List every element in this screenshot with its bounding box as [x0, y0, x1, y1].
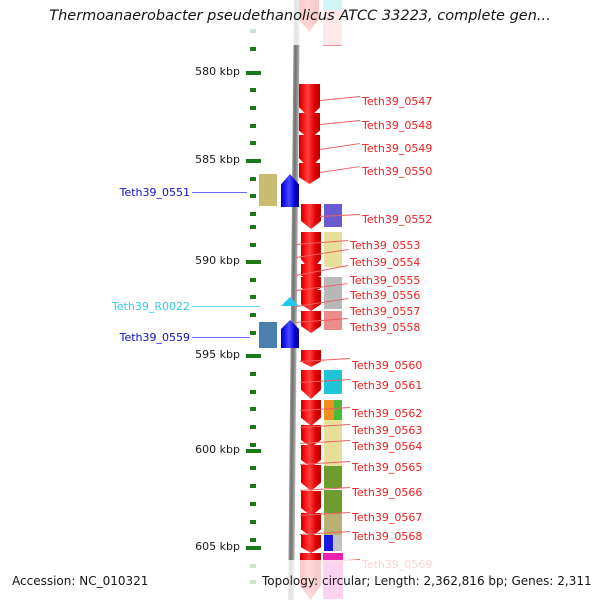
- gene-label[interactable]: Teth39_0547: [362, 95, 432, 108]
- feature-0568-arrow[interactable]: [301, 535, 321, 553]
- ruler-tick-minor: [250, 243, 256, 247]
- ruler-tick-minor: [250, 88, 256, 92]
- genome-viewer[interactable]: 580 kbp585 kbp590 kbp595 kbp600 kbp605 k…: [0, 0, 600, 600]
- gene-label[interactable]: Teth39_0549: [362, 142, 432, 155]
- ruler-tick-minor: [250, 313, 256, 317]
- feature-0562-arrow[interactable]: [301, 400, 321, 426]
- ruler-tick-minor: [250, 47, 256, 51]
- gene-label[interactable]: Teth39_0568: [352, 530, 422, 543]
- gene-label[interactable]: Teth39_0561: [352, 379, 422, 392]
- gene-label[interactable]: Teth39_0565: [352, 461, 422, 474]
- feature-0559-rect[interactable]: [259, 322, 277, 348]
- gene-label[interactable]: Teth39_0548: [362, 119, 432, 132]
- gene-label[interactable]: Teth39_0551: [52, 186, 190, 199]
- ruler-tick-minor: [250, 106, 256, 110]
- ruler-label: 600 kbp: [150, 443, 240, 456]
- feature-0547[interactable]: [299, 84, 320, 118]
- ruler-tick-minor: [250, 331, 256, 335]
- label-leader-line: [320, 120, 360, 125]
- feature-0560[interactable]: [301, 350, 321, 367]
- ruler-tick-minor: [250, 466, 256, 470]
- gene-label[interactable]: Teth39_0556: [350, 289, 420, 302]
- label-leader-line: [192, 306, 260, 307]
- ruler-tick-minor: [250, 520, 256, 524]
- feature-0568-rect-a[interactable]: [324, 535, 333, 551]
- ruler-tick-minor: [250, 177, 256, 181]
- gene-label[interactable]: Teth39_0566: [352, 486, 422, 499]
- feature-0566-arrow[interactable]: [301, 491, 321, 516]
- feature-0552-arrow[interactable]: [301, 204, 321, 229]
- ruler-tick-minor: [250, 295, 256, 299]
- gene-label[interactable]: Teth39_0567: [352, 511, 422, 524]
- ruler-tick-major: [246, 546, 261, 550]
- ruler-label: 590 kbp: [150, 254, 240, 267]
- ruler-tick-minor: [250, 225, 256, 229]
- label-leader-line: [192, 192, 247, 193]
- gene-label[interactable]: Teth39_0559: [52, 331, 190, 344]
- ruler-tick-major: [246, 260, 261, 264]
- gene-label[interactable]: Teth39_0557: [350, 305, 420, 318]
- label-leader-line: [320, 143, 360, 150]
- accession-label: Accession: NC_010321: [12, 574, 148, 588]
- ruler-tick-minor: [250, 502, 256, 506]
- ruler-tick-minor: [250, 390, 256, 394]
- ruler-tick-major: [246, 71, 261, 75]
- feature-0565-rect[interactable]: [324, 466, 342, 488]
- feature-0562-rect-b[interactable]: [334, 400, 342, 420]
- ruler-tick-minor: [250, 538, 256, 542]
- feature-0566-rect[interactable]: [324, 490, 342, 514]
- gene-label[interactable]: Teth39_0553: [350, 239, 420, 252]
- gene-label[interactable]: Teth39_R0022: [52, 300, 190, 313]
- feature-0550[interactable]: [299, 163, 320, 184]
- gene-label[interactable]: Teth39_0555: [350, 274, 420, 287]
- ruler-label: 605 kbp: [150, 540, 240, 553]
- ruler-tick-minor: [250, 443, 256, 447]
- feature-0565-arrow[interactable]: [301, 465, 321, 491]
- sequence-title: Thermoanaerobacter pseudethanolicus ATCC…: [0, 8, 600, 24]
- ruler-label: 580 kbp: [150, 65, 240, 78]
- label-leader-line: [320, 166, 360, 173]
- gene-label[interactable]: Teth39_0560: [352, 359, 422, 372]
- ruler-tick-minor: [250, 484, 256, 488]
- feature-0568-rect-b[interactable]: [333, 535, 342, 551]
- feature-0551-rect[interactable]: [259, 174, 277, 206]
- gene-label[interactable]: Teth39_0552: [362, 213, 432, 226]
- ruler-tick-major: [246, 449, 261, 453]
- label-leader-line: [320, 96, 360, 101]
- ruler-tick-minor: [250, 141, 256, 145]
- ruler-tick-major: [246, 354, 261, 358]
- feature-0561-rect[interactable]: [324, 370, 342, 394]
- gene-label[interactable]: Teth39_0558: [350, 321, 420, 334]
- gene-label[interactable]: Teth39_0554: [350, 256, 420, 269]
- feature-0562-rect-a[interactable]: [324, 400, 334, 420]
- gene-label[interactable]: Teth39_0550: [362, 165, 432, 178]
- sequence-stats-label: Topology: circular; Length: 2,362,816 bp…: [262, 574, 592, 588]
- ruler-label: 585 kbp: [150, 153, 240, 166]
- ruler-tick-minor: [250, 212, 256, 216]
- ruler-tick-major: [246, 159, 261, 163]
- gene-label[interactable]: Teth39_0563: [352, 424, 422, 437]
- gene-label[interactable]: Teth39_0562: [352, 407, 422, 420]
- ruler-tick-minor: [250, 425, 256, 429]
- feature-0557-arrow[interactable]: [301, 290, 321, 311]
- ruler-label: 595 kbp: [150, 348, 240, 361]
- ruler-tick-minor: [250, 407, 256, 411]
- ruler-tick-minor: [250, 194, 256, 198]
- feature-0561-arrow[interactable]: [301, 370, 321, 399]
- label-leader-line: [192, 337, 250, 338]
- ruler-tick-minor: [250, 124, 256, 128]
- gene-label[interactable]: Teth39_0564: [352, 440, 422, 453]
- ruler-tick-minor: [250, 278, 256, 282]
- ruler-tick-minor: [250, 372, 256, 376]
